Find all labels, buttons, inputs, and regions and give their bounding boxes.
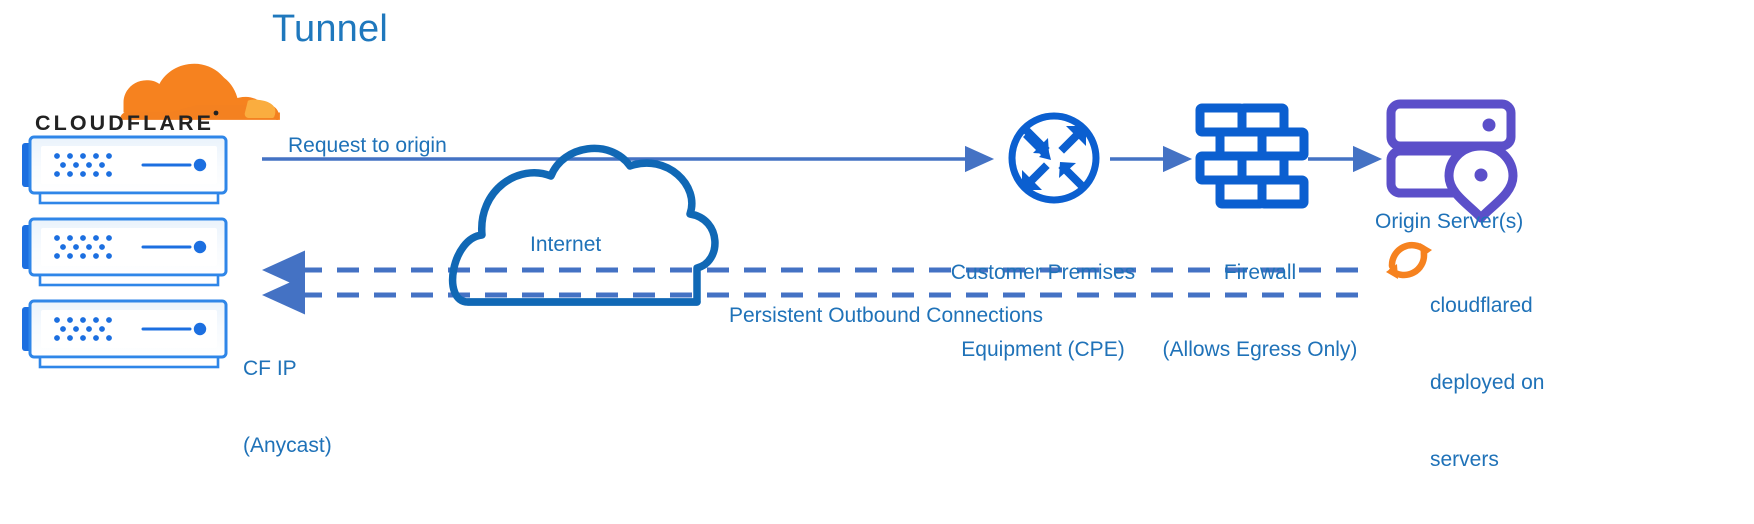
cf-server-device-2 [22, 219, 226, 285]
diagram-canvas: Tunnel CLOUDFLARE [0, 0, 1754, 422]
cf-ip-label: CF IP (Anycast) [243, 305, 332, 510]
persistent-outbound-label: Persistent Outbound Connections [729, 303, 1043, 329]
firewall-label-line2: (Allows Egress Only) [1158, 337, 1362, 363]
internet-label: Internet [530, 232, 601, 258]
cpe-label-line2: Equipment (CPE) [947, 337, 1139, 363]
cf-ip-label-line1: CF IP [243, 356, 332, 382]
cloudflared-label-line3: servers [1430, 447, 1560, 473]
request-to-origin-label: Request to origin [288, 133, 447, 159]
cloudflared-label-line1: cloudflared [1430, 293, 1560, 319]
internet-cloud-icon [453, 148, 715, 302]
cf-server-device-3 [22, 301, 226, 367]
origin-server-label: Origin Server(s) [1375, 209, 1523, 235]
cloudflared-label-line2: deployed on [1430, 370, 1560, 396]
cf-ip-label-line2: (Anycast) [243, 433, 332, 459]
firewall-label-line1: Firewall [1158, 260, 1362, 286]
firewall-label: Firewall (Allows Egress Only) [1158, 209, 1362, 414]
cloudflared-label: cloudflared deployed on servers [1430, 242, 1560, 524]
origin-server-icon [1391, 104, 1513, 218]
cpe-label-line1: Customer Premises [947, 260, 1139, 286]
firewall-brick-icon [1200, 108, 1304, 204]
cf-server-device-1 [22, 137, 226, 203]
cloudflared-refresh-icon [1386, 243, 1432, 279]
cpe-router-icon [1012, 116, 1096, 200]
